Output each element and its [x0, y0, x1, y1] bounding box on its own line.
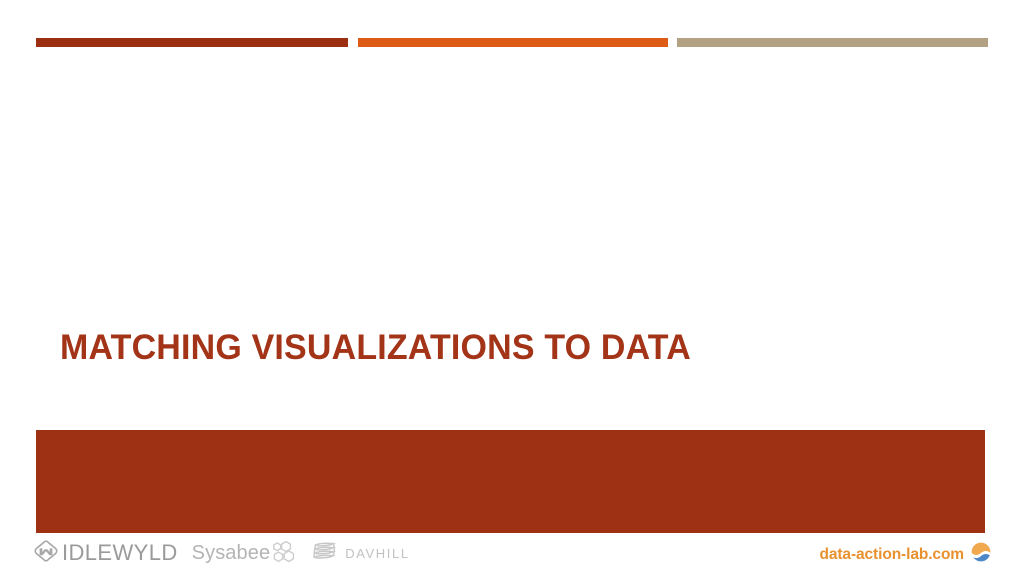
- footer-partner-logos: IDLEWYLD Sysabee: [34, 539, 410, 567]
- site-url-label: data-action-lab.com: [819, 547, 964, 563]
- slide-footer: IDLEWYLD Sysabee: [0, 536, 1024, 576]
- davhill-stacked-lines-icon: [311, 540, 339, 567]
- accent-rule-tan: [677, 38, 988, 47]
- logo-davhill-label: DAVHILL: [345, 547, 409, 560]
- accent-rule-orange: [358, 38, 668, 47]
- logo-idlewyld-label: IDLEWYLD: [62, 542, 178, 564]
- sysabee-honeycomb-icon: [271, 539, 297, 568]
- logo-davhill[interactable]: DAVHILL: [311, 540, 409, 566]
- footer-site-link[interactable]: data-action-lab.com: [819, 541, 992, 568]
- decorative-red-band: [36, 430, 985, 533]
- accent-rule-dark-red: [36, 38, 348, 47]
- logo-idlewyld[interactable]: IDLEWYLD: [34, 540, 178, 566]
- logo-sysabee-label: Sysabee: [192, 543, 271, 563]
- data-action-lab-circle-icon: [970, 541, 992, 568]
- title-block: MATCHING VISUALIZATIONS TO DATA: [60, 326, 960, 370]
- logo-sysabee[interactable]: Sysabee: [192, 540, 298, 566]
- idlewyld-diamond-w-icon: [34, 540, 58, 567]
- presentation-slide: MATCHING VISUALIZATIONS TO DATA IDLEWYLD…: [0, 0, 1024, 576]
- top-accent-rules: [0, 38, 1024, 48]
- page-title: MATCHING VISUALIZATIONS TO DATA: [60, 326, 933, 370]
